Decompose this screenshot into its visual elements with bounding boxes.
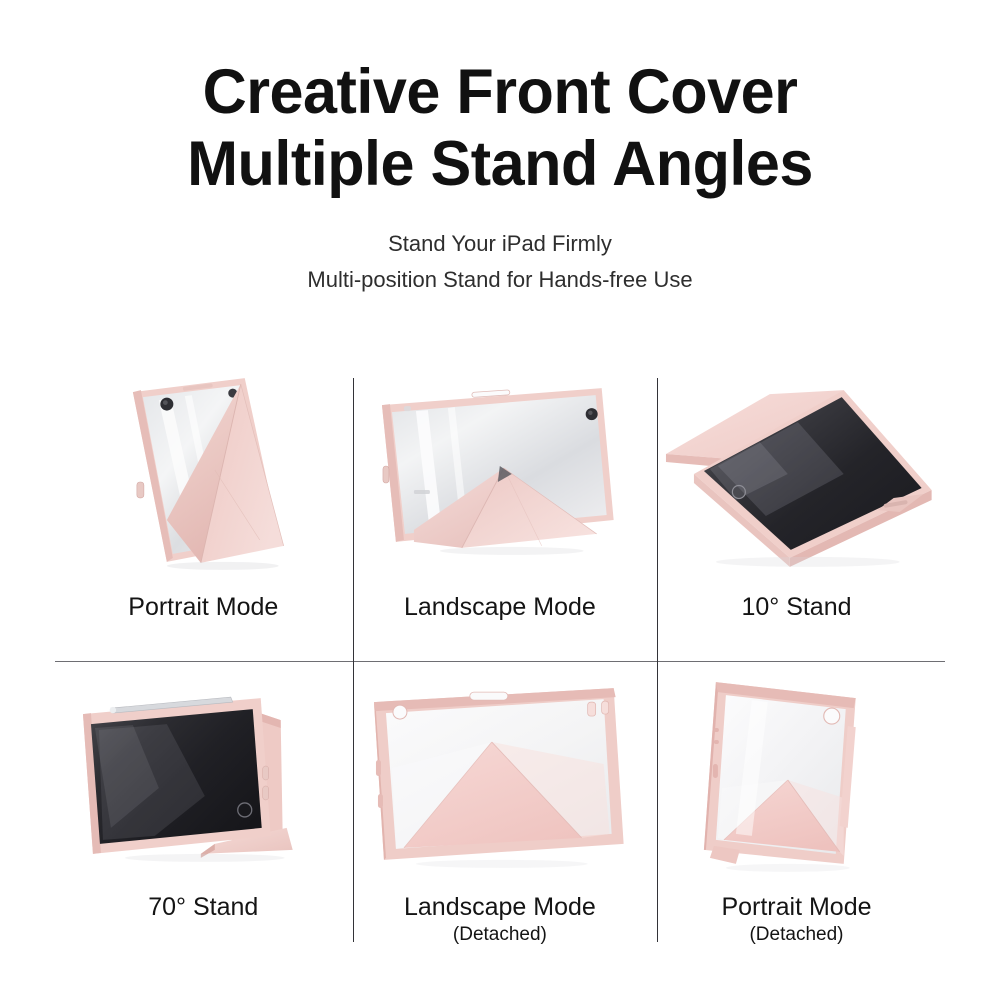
cell-caption: Portrait Mode (721, 892, 871, 922)
cell-caption: Landscape Mode (404, 592, 596, 622)
header: Creative Front Cover Multiple Stand Angl… (0, 0, 1000, 298)
grid-row: 70° Stand (55, 668, 945, 960)
case-landscape-detached-illustration (352, 668, 649, 878)
grid-divider-vertical-left (353, 378, 354, 942)
cell-caption: 70° Stand (148, 892, 258, 922)
cell-sub-caption: (Detached) (749, 922, 843, 948)
subtitle-line-1: Stand Your iPad Firmly (0, 226, 1000, 262)
ipad-landscape-stand-illustration (352, 370, 649, 580)
grid-divider-vertical-right (657, 378, 658, 942)
grid-row: Portrait Mode (55, 370, 945, 662)
cell-caption: 10° Stand (741, 592, 851, 622)
cell-caption: Portrait Mode (128, 592, 278, 622)
ipad-70-degree-stand-illustration (55, 668, 352, 878)
grid-cell-landscape-detached: Landscape Mode (Detached) (352, 668, 649, 960)
stand-modes-grid: Portrait Mode (55, 370, 945, 960)
ipad-portrait-stand-illustration (55, 370, 352, 580)
grid-cell-portrait-detached: Portrait Mode (Detached) (648, 668, 945, 960)
grid-cell-70-degree-stand: 70° Stand (55, 668, 352, 960)
ipad-10-degree-stand-illustration (648, 370, 945, 580)
grid-cell-landscape-mode: Landscape Mode (352, 370, 649, 662)
grid-divider-horizontal (55, 661, 945, 662)
cell-sub-caption: (Detached) (453, 922, 547, 948)
grid-cell-portrait-mode: Portrait Mode (55, 370, 352, 662)
page-title-line-2: Multiple Stand Angles (15, 128, 985, 200)
subtitle-block: Stand Your iPad Firmly Multi-position St… (0, 226, 1000, 298)
case-portrait-detached-illustration (648, 668, 945, 878)
page-title-line-1: Creative Front Cover (15, 56, 985, 128)
subtitle-line-2: Multi-position Stand for Hands-free Use (0, 262, 1000, 298)
cell-caption: Landscape Mode (404, 892, 596, 922)
grid-cell-10-degree-stand: 10° Stand (648, 370, 945, 662)
